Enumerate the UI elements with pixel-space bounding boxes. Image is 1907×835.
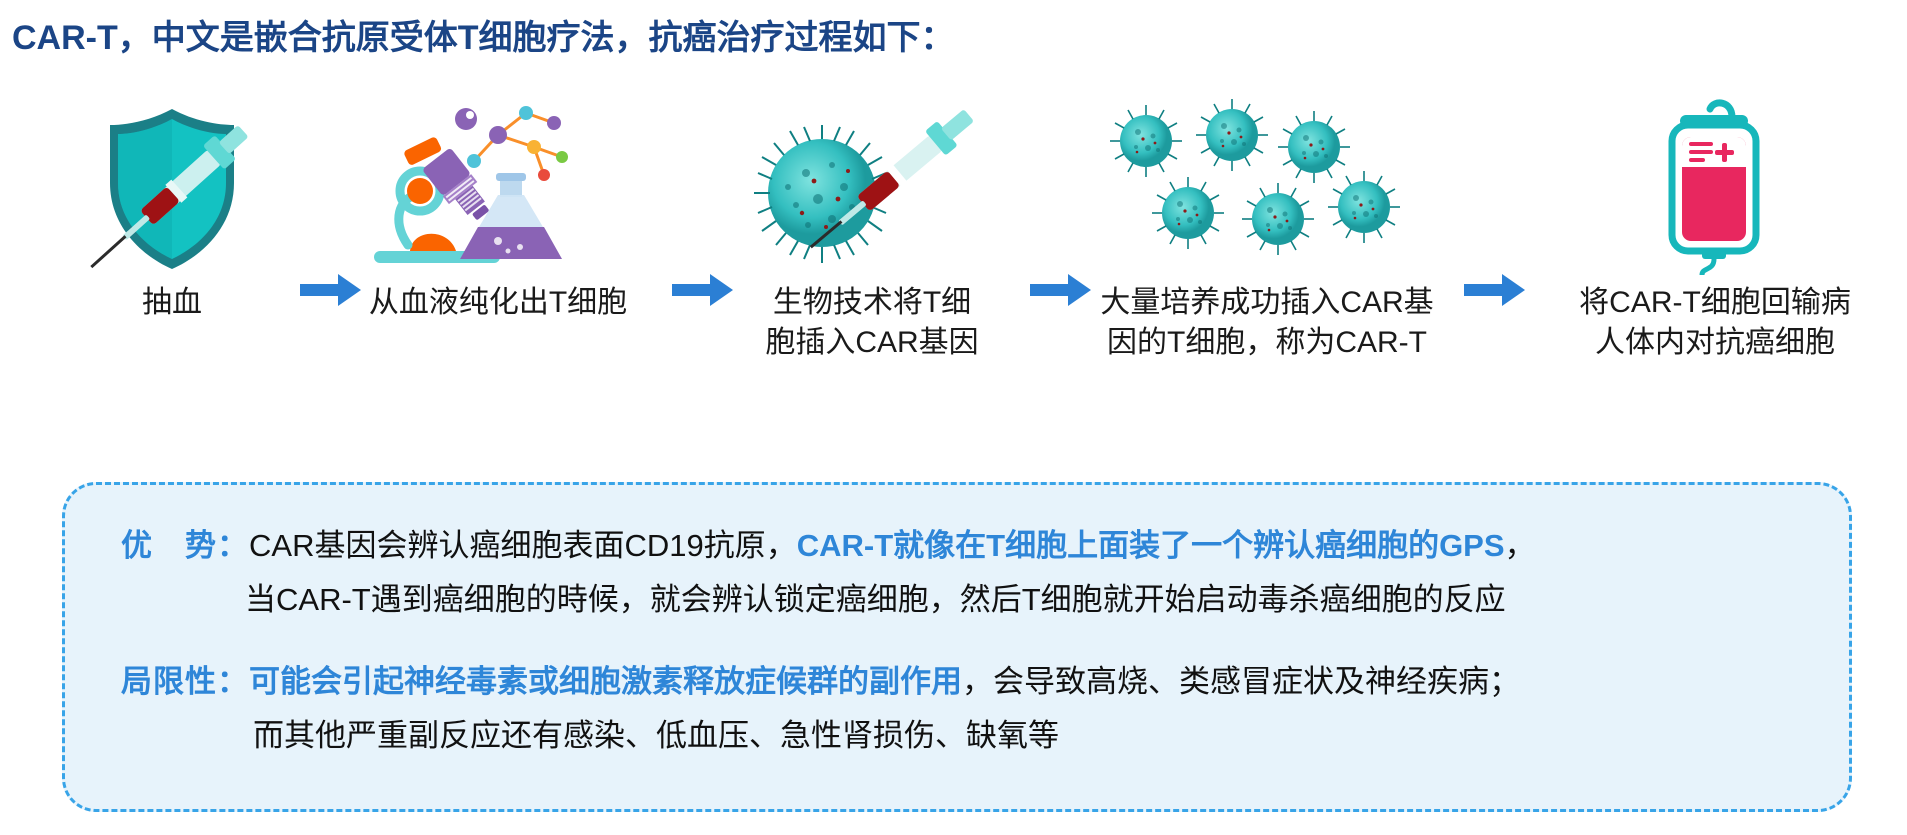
process-flow: 抽血 <box>0 95 1907 385</box>
advantage-text-a: CAR基因会辨认癌细胞表面CD19抗原， <box>249 528 797 563</box>
note-advantage: 优 势：CAR基因会辨认癌细胞表面CD19抗原，CAR-T就像在T细胞上面装了一… <box>121 519 1536 627</box>
shield-syringe-icon <box>22 95 322 275</box>
step-4-caption-line1: 大量培养成功插入CAR基 <box>1082 283 1452 323</box>
process-step-5: 将CAR-T细胞回输病 人体内对抗癌细胞 <box>1540 95 1890 385</box>
limitation-line-1: 局限性：可能会引起神经毒素或细胞激素释放症候群的副作用，会导致高烧、类感冒症状及… <box>121 655 1520 709</box>
advantage-line-1: 优 势：CAR基因会辨认癌细胞表面CD19抗原，CAR-T就像在T细胞上面装了一… <box>121 519 1536 573</box>
step-5-caption: 将CAR-T细胞回输病 人体内对抗癌细胞 <box>1540 283 1890 362</box>
step-5-caption-line2: 人体内对抗癌细胞 <box>1540 323 1890 363</box>
molecule-decoration <box>455 106 568 181</box>
note-limitation: 局限性：可能会引起神经毒素或细胞激素释放症候群的副作用，会导致高烧、类感冒症状及… <box>121 655 1520 763</box>
step-3-caption-line1: 生物技术将T细 <box>722 283 1022 323</box>
advantage-line-2: 当CAR-T遇到癌细胞的時候，就会辨认锁定癌细胞，然后T细胞就开始启动毒杀癌细胞… <box>121 573 1536 627</box>
step-3-caption-line2: 胞插入CAR基因 <box>722 323 1022 363</box>
limitation-text-b: ，会导致高烧、类感冒症状及神经疾病； <box>962 664 1520 699</box>
iv-blood-bag-icon <box>1540 95 1890 275</box>
advantage-highlight: CAR-T就像在T细胞上面装了一个辨认癌细胞的GPS <box>797 528 1505 563</box>
cart-cell-cluster-icon <box>1082 95 1452 275</box>
tcell-syringe-icon <box>722 95 1022 275</box>
process-step-4: 大量培养成功插入CAR基 因的T细胞，称为CAR-T <box>1082 95 1452 385</box>
advantage-label: 优 势： <box>121 528 249 563</box>
step-4-caption: 大量培养成功插入CAR基 因的T细胞，称为CAR-T <box>1082 283 1452 362</box>
arrow-right-icon-4 <box>1464 273 1526 307</box>
infographic-page: CAR-T，中文是嵌合抗原受体T细胞疗法，抗癌治疗过程如下： <box>0 0 1907 835</box>
process-step-2: 从血液纯化出T细胞 <box>348 95 648 385</box>
microscope-flask-icon <box>348 95 648 275</box>
process-step-1: 抽血 <box>22 95 322 385</box>
step-1-caption: 抽血 <box>22 283 322 323</box>
limitation-highlight: 可能会引起神经毒素或细胞激素释放症候群的副作用 <box>249 664 962 699</box>
limitation-line-2: 而其他严重副反应还有感染、低血压、急性肾损伤、缺氧等 <box>121 709 1520 763</box>
step-5-caption-line1: 将CAR-T细胞回输病 <box>1540 283 1890 323</box>
notes-panel: 优 势：CAR基因会辨认癌细胞表面CD19抗原，CAR-T就像在T细胞上面装了一… <box>62 482 1852 812</box>
step-4-caption-line2: 因的T细胞，称为CAR-T <box>1082 323 1452 363</box>
step-2-caption: 从血液纯化出T细胞 <box>348 283 648 323</box>
limitation-label: 局限性： <box>121 664 249 699</box>
step-3-caption: 生物技术将T细 胞插入CAR基因 <box>722 283 1022 362</box>
advantage-text-b: ， <box>1505 528 1536 563</box>
process-step-3: 生物技术将T细 胞插入CAR基因 <box>722 95 1022 385</box>
page-title: CAR-T，中文是嵌合抗原受体T细胞疗法，抗癌治疗过程如下： <box>12 10 955 59</box>
